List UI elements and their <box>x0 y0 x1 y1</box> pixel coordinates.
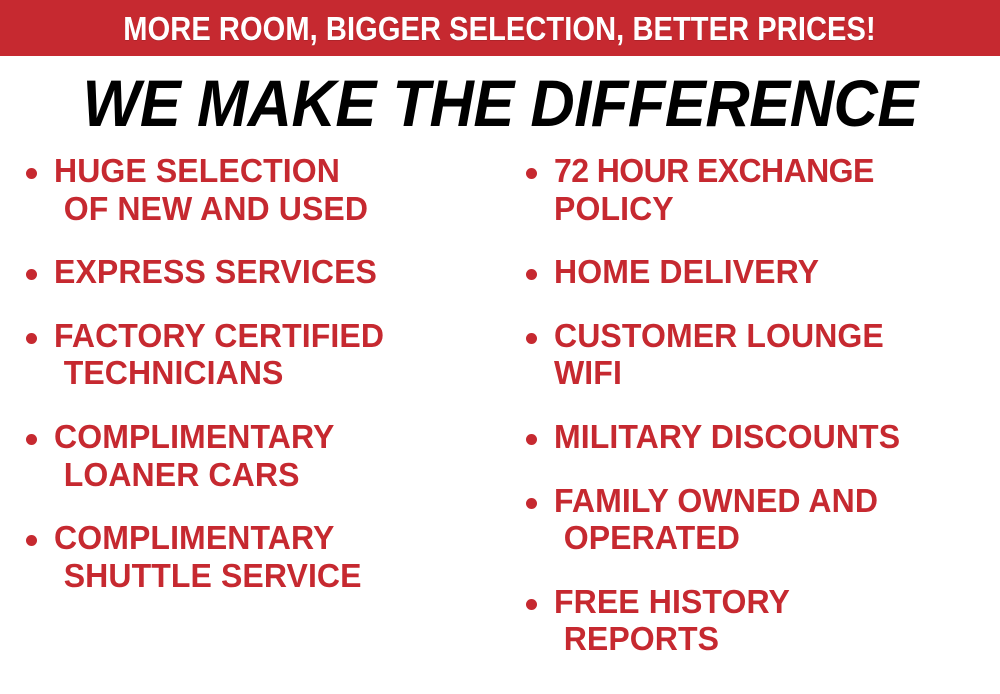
list-item: HUGE SELECTION OF NEW AND USED <box>14 152 500 227</box>
top-banner: MORE ROOM, BIGGER SELECTION, BETTER PRIC… <box>0 0 1000 56</box>
list-item-text: COMPLIMENTARY SHUTTLE SERVICE <box>54 519 487 594</box>
list-item-text: HUGE SELECTION OF NEW AND USED <box>54 152 487 227</box>
list-item-line: TECHNICIANS <box>54 354 487 392</box>
list-item-line: HOME DELIVERY <box>554 253 987 291</box>
benefits-column-right: 72 HOUR EXCHANGE POLICY HOME DELIVERY CU… <box>514 152 1000 694</box>
list-item-text: EXPRESS SERVICES <box>54 253 487 291</box>
list-item-text: FACTORY CERTIFIED TECHNICIANS <box>54 317 487 392</box>
list-item: CUSTOMER LOUNGE WIFI <box>514 317 1000 392</box>
benefits-columns: HUGE SELECTION OF NEW AND USED EXPRESS S… <box>0 152 1000 694</box>
list-item: 72 HOUR EXCHANGE POLICY <box>514 152 1000 227</box>
list-item-line: FACTORY CERTIFIED <box>54 317 487 355</box>
list-item-line: WIFI <box>554 354 987 392</box>
bullet-dot-icon <box>526 333 537 344</box>
list-item-text: HOME DELIVERY <box>554 253 987 291</box>
bullet-dot-icon <box>26 168 37 179</box>
list-item-line: LOANER CARS <box>54 456 487 494</box>
list-item-line: CUSTOMER LOUNGE <box>554 317 987 355</box>
list-item-line: SHUTTLE SERVICE <box>54 557 487 595</box>
bullet-dot-icon <box>526 434 537 445</box>
list-item: FREE HISTORY REPORTS <box>514 583 1000 658</box>
page-title: WE MAKE THE DIFFERENCE <box>82 70 917 136</box>
list-item-line: FAMILY OWNED AND <box>554 482 987 520</box>
list-item-line: FREE HISTORY <box>554 583 987 621</box>
list-item: COMPLIMENTARY LOANER CARS <box>14 418 500 493</box>
list-item-text: MILITARY DISCOUNTS <box>554 418 987 456</box>
list-item-text: COMPLIMENTARY LOANER CARS <box>54 418 487 493</box>
list-item: FAMILY OWNED AND OPERATED <box>514 482 1000 557</box>
list-item: HOME DELIVERY <box>514 253 1000 291</box>
list-item-text: FREE HISTORY REPORTS <box>554 583 987 658</box>
bullet-dot-icon <box>26 333 37 344</box>
list-item-line: REPORTS <box>554 620 987 658</box>
list-item: EXPRESS SERVICES <box>14 253 500 291</box>
list-item-text: FAMILY OWNED AND OPERATED <box>554 482 987 557</box>
list-item-line: MILITARY DISCOUNTS <box>554 418 987 456</box>
benefits-column-left: HUGE SELECTION OF NEW AND USED EXPRESS S… <box>14 152 500 694</box>
list-item-line: OF NEW AND USED <box>54 190 487 228</box>
bullet-dot-icon <box>26 269 37 280</box>
list-item-line: 72 HOUR EXCHANGE <box>554 152 987 190</box>
list-item-line: OPERATED <box>554 519 987 557</box>
list-item-line: EXPRESS SERVICES <box>54 253 487 291</box>
bullet-dot-icon <box>526 599 537 610</box>
list-item-line: COMPLIMENTARY <box>54 519 487 557</box>
bullet-dot-icon <box>526 498 537 509</box>
list-item-line: POLICY <box>554 190 987 228</box>
bullet-dot-icon <box>26 535 37 546</box>
promo-poster: MORE ROOM, BIGGER SELECTION, BETTER PRIC… <box>0 0 1000 694</box>
bullet-dot-icon <box>26 434 37 445</box>
list-item-text: 72 HOUR EXCHANGE POLICY <box>554 152 987 227</box>
list-item-line: HUGE SELECTION <box>54 152 487 190</box>
list-item: MILITARY DISCOUNTS <box>514 418 1000 456</box>
bullet-dot-icon <box>526 269 537 280</box>
list-item-line: COMPLIMENTARY <box>54 418 487 456</box>
list-item-text: CUSTOMER LOUNGE WIFI <box>554 317 987 392</box>
list-item: FACTORY CERTIFIED TECHNICIANS <box>14 317 500 392</box>
top-banner-text: MORE ROOM, BIGGER SELECTION, BETTER PRIC… <box>124 12 876 45</box>
list-item: COMPLIMENTARY SHUTTLE SERVICE <box>14 519 500 594</box>
headline-container: WE MAKE THE DIFFERENCE <box>0 64 1000 142</box>
bullet-dot-icon <box>526 168 537 179</box>
